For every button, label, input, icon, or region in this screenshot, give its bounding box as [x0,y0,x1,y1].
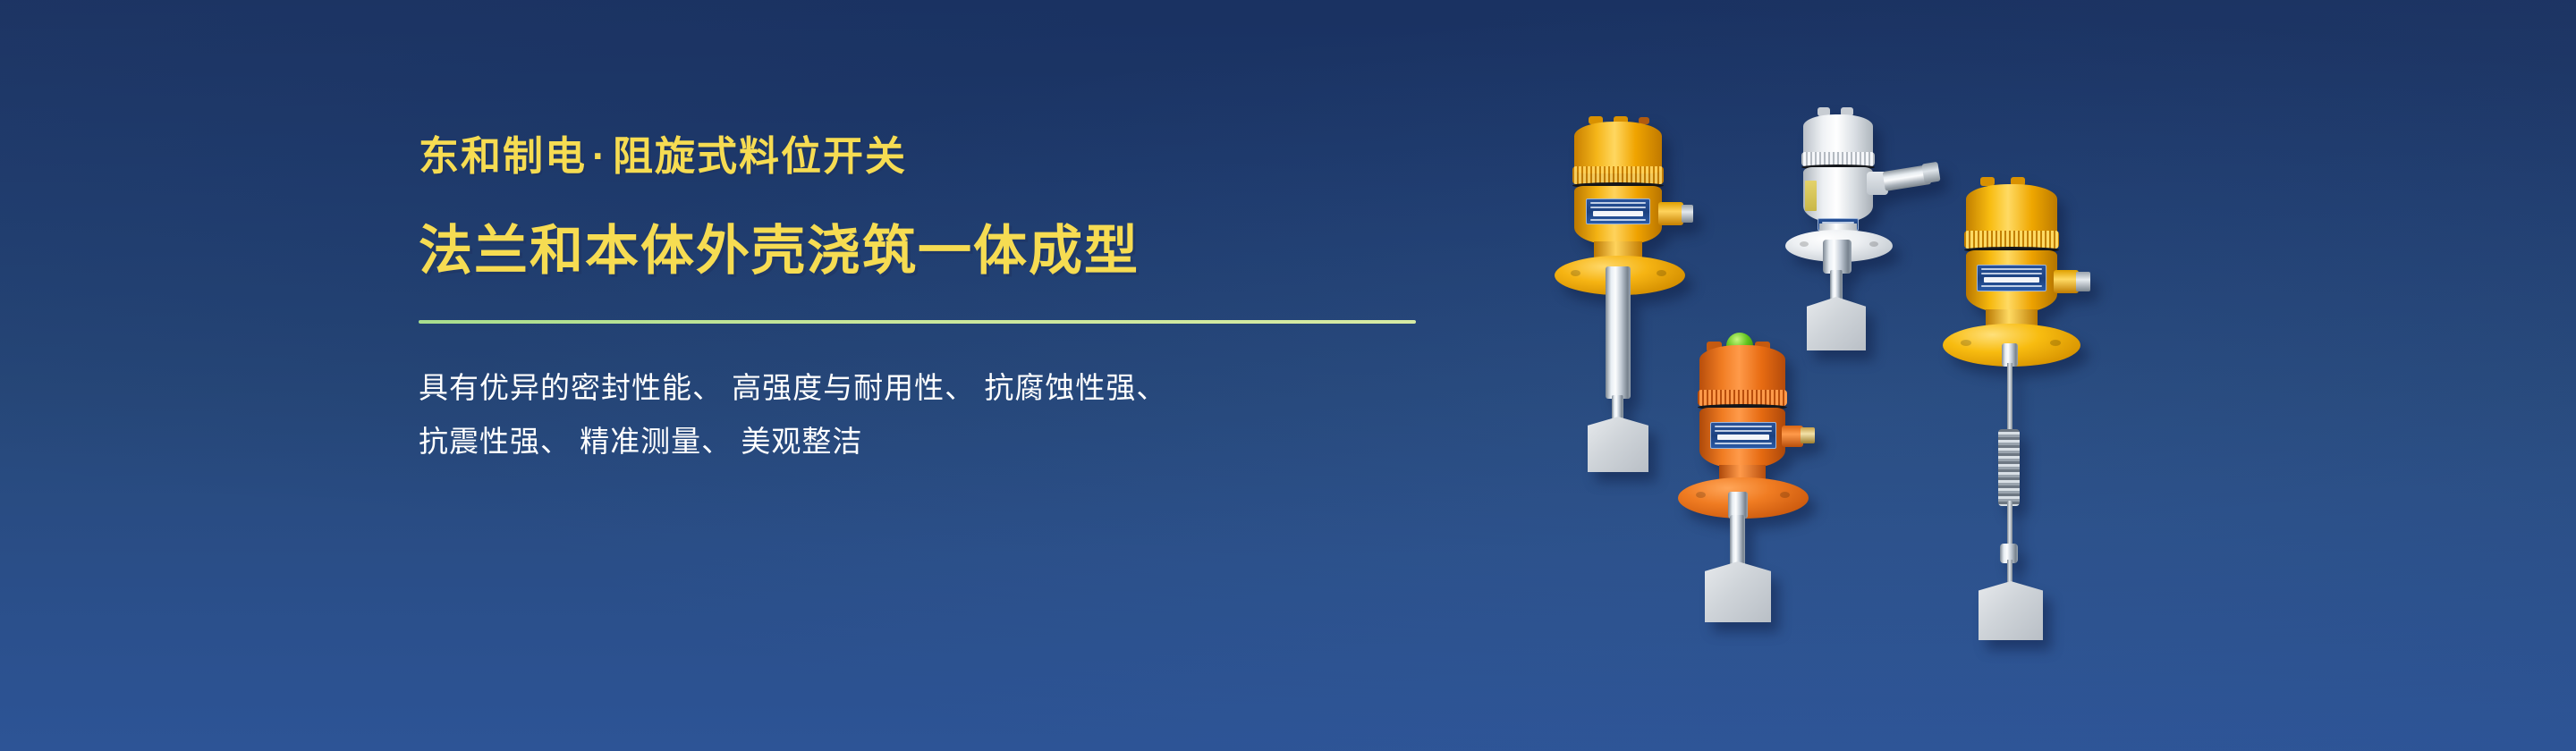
cable-gland [1658,202,1683,225]
banner-headline: 法兰和本体外壳浇筑一体成型 [419,222,1546,281]
flange-bolt-hole [1800,241,1809,247]
flange-bolt-hole [1780,492,1790,498]
product-yellow-cable-spring: yellow-cable-spring-level-switch [1925,177,2140,642]
feature-line-1: 具有优异的密封性能、 高强度与耐用性、 抗腐蚀性强、 [419,361,1546,415]
product-nameplate [1710,422,1776,449]
tension-spring [1998,429,2020,506]
measuring-paddle [1705,561,1771,622]
housing-cap [1966,184,2057,238]
product-orange-flanged: orange-flanged-level-switch [1662,333,1868,646]
extension-rod [1606,266,1631,399]
product-category: 阻旋式料位开关 [613,133,907,179]
knurled-ring [1964,231,2059,249]
side-sticker [1805,181,1817,211]
flange-bolt-hole [1961,340,1971,346]
flange-bolt-hole [1869,241,1878,247]
product-nameplate [1977,265,2046,291]
cable-gland [2054,270,2079,293]
product-image-group: yellow-rod-type-level-switch [1485,107,2165,644]
flange-bolt-hole [1657,270,1666,276]
banner-features: 具有优异的密封性能、 高强度与耐用性、 抗腐蚀性强、 抗震性强、 精准测量、 美… [419,361,1546,468]
cable-gland-tip [2076,272,2090,291]
cable-gland-tip [1682,205,1693,223]
eyebrow-separator: · [587,133,613,179]
cable-gland-tip [1801,427,1815,443]
shaft-bearing [1823,240,1851,274]
headline-divider [419,320,1416,324]
banner-copy-block: 东和制电·阻旋式料位开关 法兰和本体外壳浇筑一体成型 具有优异的密封性能、 高强… [419,134,1546,468]
suspension-cable [2007,363,2012,433]
product-banner: 东和制电·阻旋式料位开关 法兰和本体外壳浇筑一体成型 具有优异的密封性能、 高强… [0,0,2576,751]
flange-bolt-hole [2050,340,2061,346]
feature-line-2: 抗震性强、 精准测量、 美观整洁 [419,415,1546,468]
measuring-paddle [1588,417,1648,472]
housing-cap [1803,114,1873,157]
product-nameplate [1586,198,1650,224]
banner-eyebrow: 东和制电·阻旋式料位开关 [419,134,1546,179]
flange-bolt-hole [1696,492,1706,498]
brand-name: 东和制电 [419,133,587,179]
flange-bolt-hole [1571,270,1580,276]
measuring-paddle [1979,581,2043,640]
knurled-ring [1572,166,1664,184]
